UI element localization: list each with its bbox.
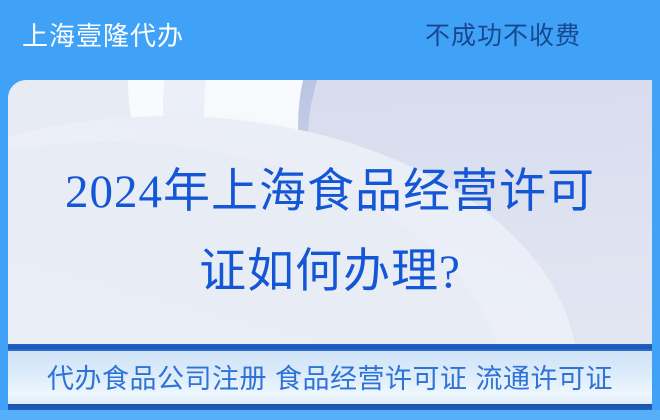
bottom-divider-top — [8, 344, 652, 351]
keyword-bar: 代办食品公司注册 食品经营许可证 流通许可证 — [8, 351, 652, 406]
keyword-bar-text: 代办食品公司注册 食品经营许可证 流通许可证 — [47, 362, 613, 396]
headline-line-2: 证如何办理? — [8, 232, 652, 312]
poster-banner: 2024年上海食品经营许可 证如何办理? 上海壹隆代办 不成功不收费 代办食品公… — [0, 0, 660, 420]
bottom-frame-edge — [0, 410, 660, 420]
headline: 2024年上海食品经营许可 证如何办理? — [8, 152, 652, 312]
main-panel: 2024年上海食品经营许可 证如何办理? — [8, 80, 652, 344]
brand-title: 上海壹隆代办 — [22, 20, 184, 52]
slogan-text: 不成功不收费 — [388, 20, 618, 52]
headline-line-1: 2024年上海食品经营许可 — [8, 152, 652, 232]
